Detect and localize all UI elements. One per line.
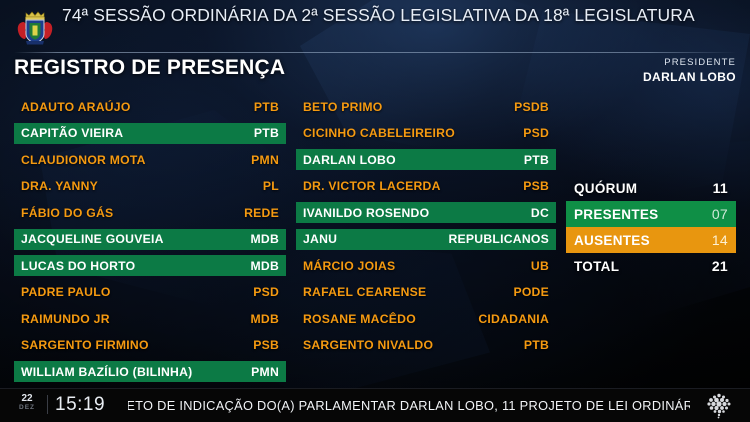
member-name: WILLIAM BAZÍLIO (BILINHA) [21, 365, 192, 379]
member-name: CAPITÃO VIEIRA [21, 126, 123, 140]
member-party: MDB [250, 259, 279, 273]
member-name: CLAUDIONOR MOTA [21, 153, 146, 167]
date-month: DEZ [14, 404, 40, 412]
member-party: UB [531, 259, 549, 273]
ticker-text: PROJETO DE INDICAÇÃO DO(A) PARLAMENTAR D… [128, 397, 690, 415]
member-name: DARLAN LOBO [303, 153, 396, 167]
page-title: 74ª SESSÃO ORDINÁRIA DA 2ª SESSÃO LEGISL… [62, 5, 736, 26]
roster-row: FÁBIO DO GÁSREDE [14, 202, 286, 223]
roster-row: CICINHO CABELEIREIROPSD [296, 123, 556, 144]
summary-row: AUSENTES14 [566, 227, 736, 253]
president-name: DARLAN LOBO [643, 70, 736, 84]
member-name: BETO PRIMO [303, 100, 382, 114]
member-party: MDB [250, 232, 279, 246]
roster-column-left: ADAUTO ARAÚJOPTBCAPITÃO VIEIRAPTBCLAUDIO… [14, 96, 286, 388]
roster-row: CLAUDIONOR MOTAPMN [14, 149, 286, 170]
member-name: DR. VICTOR LACERDA [303, 179, 441, 193]
roster-row: RAIMUNDO JRMDB [14, 308, 286, 329]
footer-bar: 22 DEZ 15:19 PROJETO DE INDICAÇÃO DO(A) … [0, 388, 750, 422]
member-name: JANU [303, 232, 337, 246]
member-party: REDE [244, 206, 279, 220]
presence-board-screen: 74ª SESSÃO ORDINÁRIA DA 2ª SESSÃO LEGISL… [0, 0, 750, 422]
summary-label: TOTAL [574, 259, 619, 274]
member-name: JACQUELINE GOUVEIA [21, 232, 164, 246]
roster-row: JANUREPUBLICANOS [296, 229, 556, 250]
roster-row: LUCAS DO HORTOMDB [14, 255, 286, 276]
summary-row: QUÓRUM11 [566, 175, 736, 201]
summary-label: PRESENTES [574, 207, 658, 222]
member-party: PSDB [514, 100, 549, 114]
member-party: PSB [253, 338, 279, 352]
date-day: 22 [14, 393, 40, 404]
summary-value: 21 [712, 258, 728, 274]
roster-row: DRA. YANNYPL [14, 176, 286, 197]
president-block: PRESIDENTE DARLAN LOBO [643, 57, 736, 84]
roster-row: RAFAEL CEARENSEPODE [296, 282, 556, 303]
roster-row: CAPITÃO VIEIRAPTB [14, 123, 286, 144]
roster-row: JACQUELINE GOUVEIAMDB [14, 229, 286, 250]
summary-value: 07 [712, 206, 728, 222]
president-role-label: PRESIDENTE [643, 57, 736, 69]
member-name: DRA. YANNY [21, 179, 98, 193]
member-party: REPUBLICANOS [448, 232, 549, 246]
date-display: 22 DEZ [14, 393, 40, 412]
member-party: PTB [254, 126, 279, 140]
ticker: PROJETO DE INDICAÇÃO DO(A) PARLAMENTAR D… [128, 397, 690, 415]
roster-row: MÁRCIO JOIASUB [296, 255, 556, 276]
summary-value: 11 [713, 180, 728, 196]
tree-dots-logo-icon [702, 392, 736, 419]
footer-separator [47, 395, 48, 414]
member-name: FÁBIO DO GÁS [21, 206, 113, 220]
member-party: PMN [251, 365, 279, 379]
member-party: PSD [523, 126, 549, 140]
summary-label: AUSENTES [574, 233, 650, 248]
member-name: ROSANE MACÊDO [303, 312, 416, 326]
member-party: DC [531, 206, 549, 220]
summary-row: PRESENTES07 [566, 201, 736, 227]
member-party: PSD [253, 285, 279, 299]
member-name: IVANILDO ROSENDO [303, 206, 429, 220]
member-party: CIDADANIA [478, 312, 549, 326]
member-name: LUCAS DO HORTO [21, 259, 135, 273]
roster-row: BETO PRIMOPSDB [296, 96, 556, 117]
roster-row: SARGENTO NIVALDOPTB [296, 335, 556, 356]
summary-label: QUÓRUM [574, 181, 637, 196]
member-party: PTB [524, 338, 549, 352]
member-name: MÁRCIO JOIAS [303, 259, 395, 273]
member-name: PADRE PAULO [21, 285, 111, 299]
member-name: RAFAEL CEARENSE [303, 285, 426, 299]
member-party: PL [263, 179, 279, 193]
summary-row: TOTAL21 [566, 253, 736, 279]
roster-row: WILLIAM BAZÍLIO (BILINHA)PMN [14, 361, 286, 382]
attendance-summary: QUÓRUM11PRESENTES07AUSENTES14TOTAL21 [566, 175, 736, 279]
roster-row: DARLAN LOBOPTB [296, 149, 556, 170]
clock-display: 15:19 [55, 394, 105, 416]
member-party: PMN [251, 153, 279, 167]
member-name: CICINHO CABELEIREIRO [303, 126, 455, 140]
member-party: PTB [254, 100, 279, 114]
roster-row: SARGENTO FIRMINOPSB [14, 335, 286, 356]
member-party: PSB [523, 179, 549, 193]
roster-row: IVANILDO ROSENDODC [296, 202, 556, 223]
summary-value: 14 [712, 232, 728, 248]
member-party: PODE [513, 285, 549, 299]
roster-column-right: BETO PRIMOPSDBCICINHO CABELEIREIROPSDDAR… [296, 96, 556, 361]
section-title: REGISTRO DE PRESENÇA [14, 56, 285, 80]
roster-row: DR. VICTOR LACERDAPSB [296, 176, 556, 197]
header-divider [14, 52, 736, 53]
member-name: ADAUTO ARAÚJO [21, 100, 131, 114]
roster-row: PADRE PAULOPSD [14, 282, 286, 303]
header: 74ª SESSÃO ORDINÁRIA DA 2ª SESSÃO LEGISL… [0, 0, 750, 52]
member-party: PTB [524, 153, 549, 167]
coat-of-arms-icon [14, 8, 56, 48]
member-name: SARGENTO NIVALDO [303, 338, 433, 352]
roster-row: ADAUTO ARAÚJOPTB [14, 96, 286, 117]
member-name: SARGENTO FIRMINO [21, 338, 149, 352]
roster-row: ROSANE MACÊDOCIDADANIA [296, 308, 556, 329]
member-name: RAIMUNDO JR [21, 312, 110, 326]
member-party: MDB [250, 312, 279, 326]
